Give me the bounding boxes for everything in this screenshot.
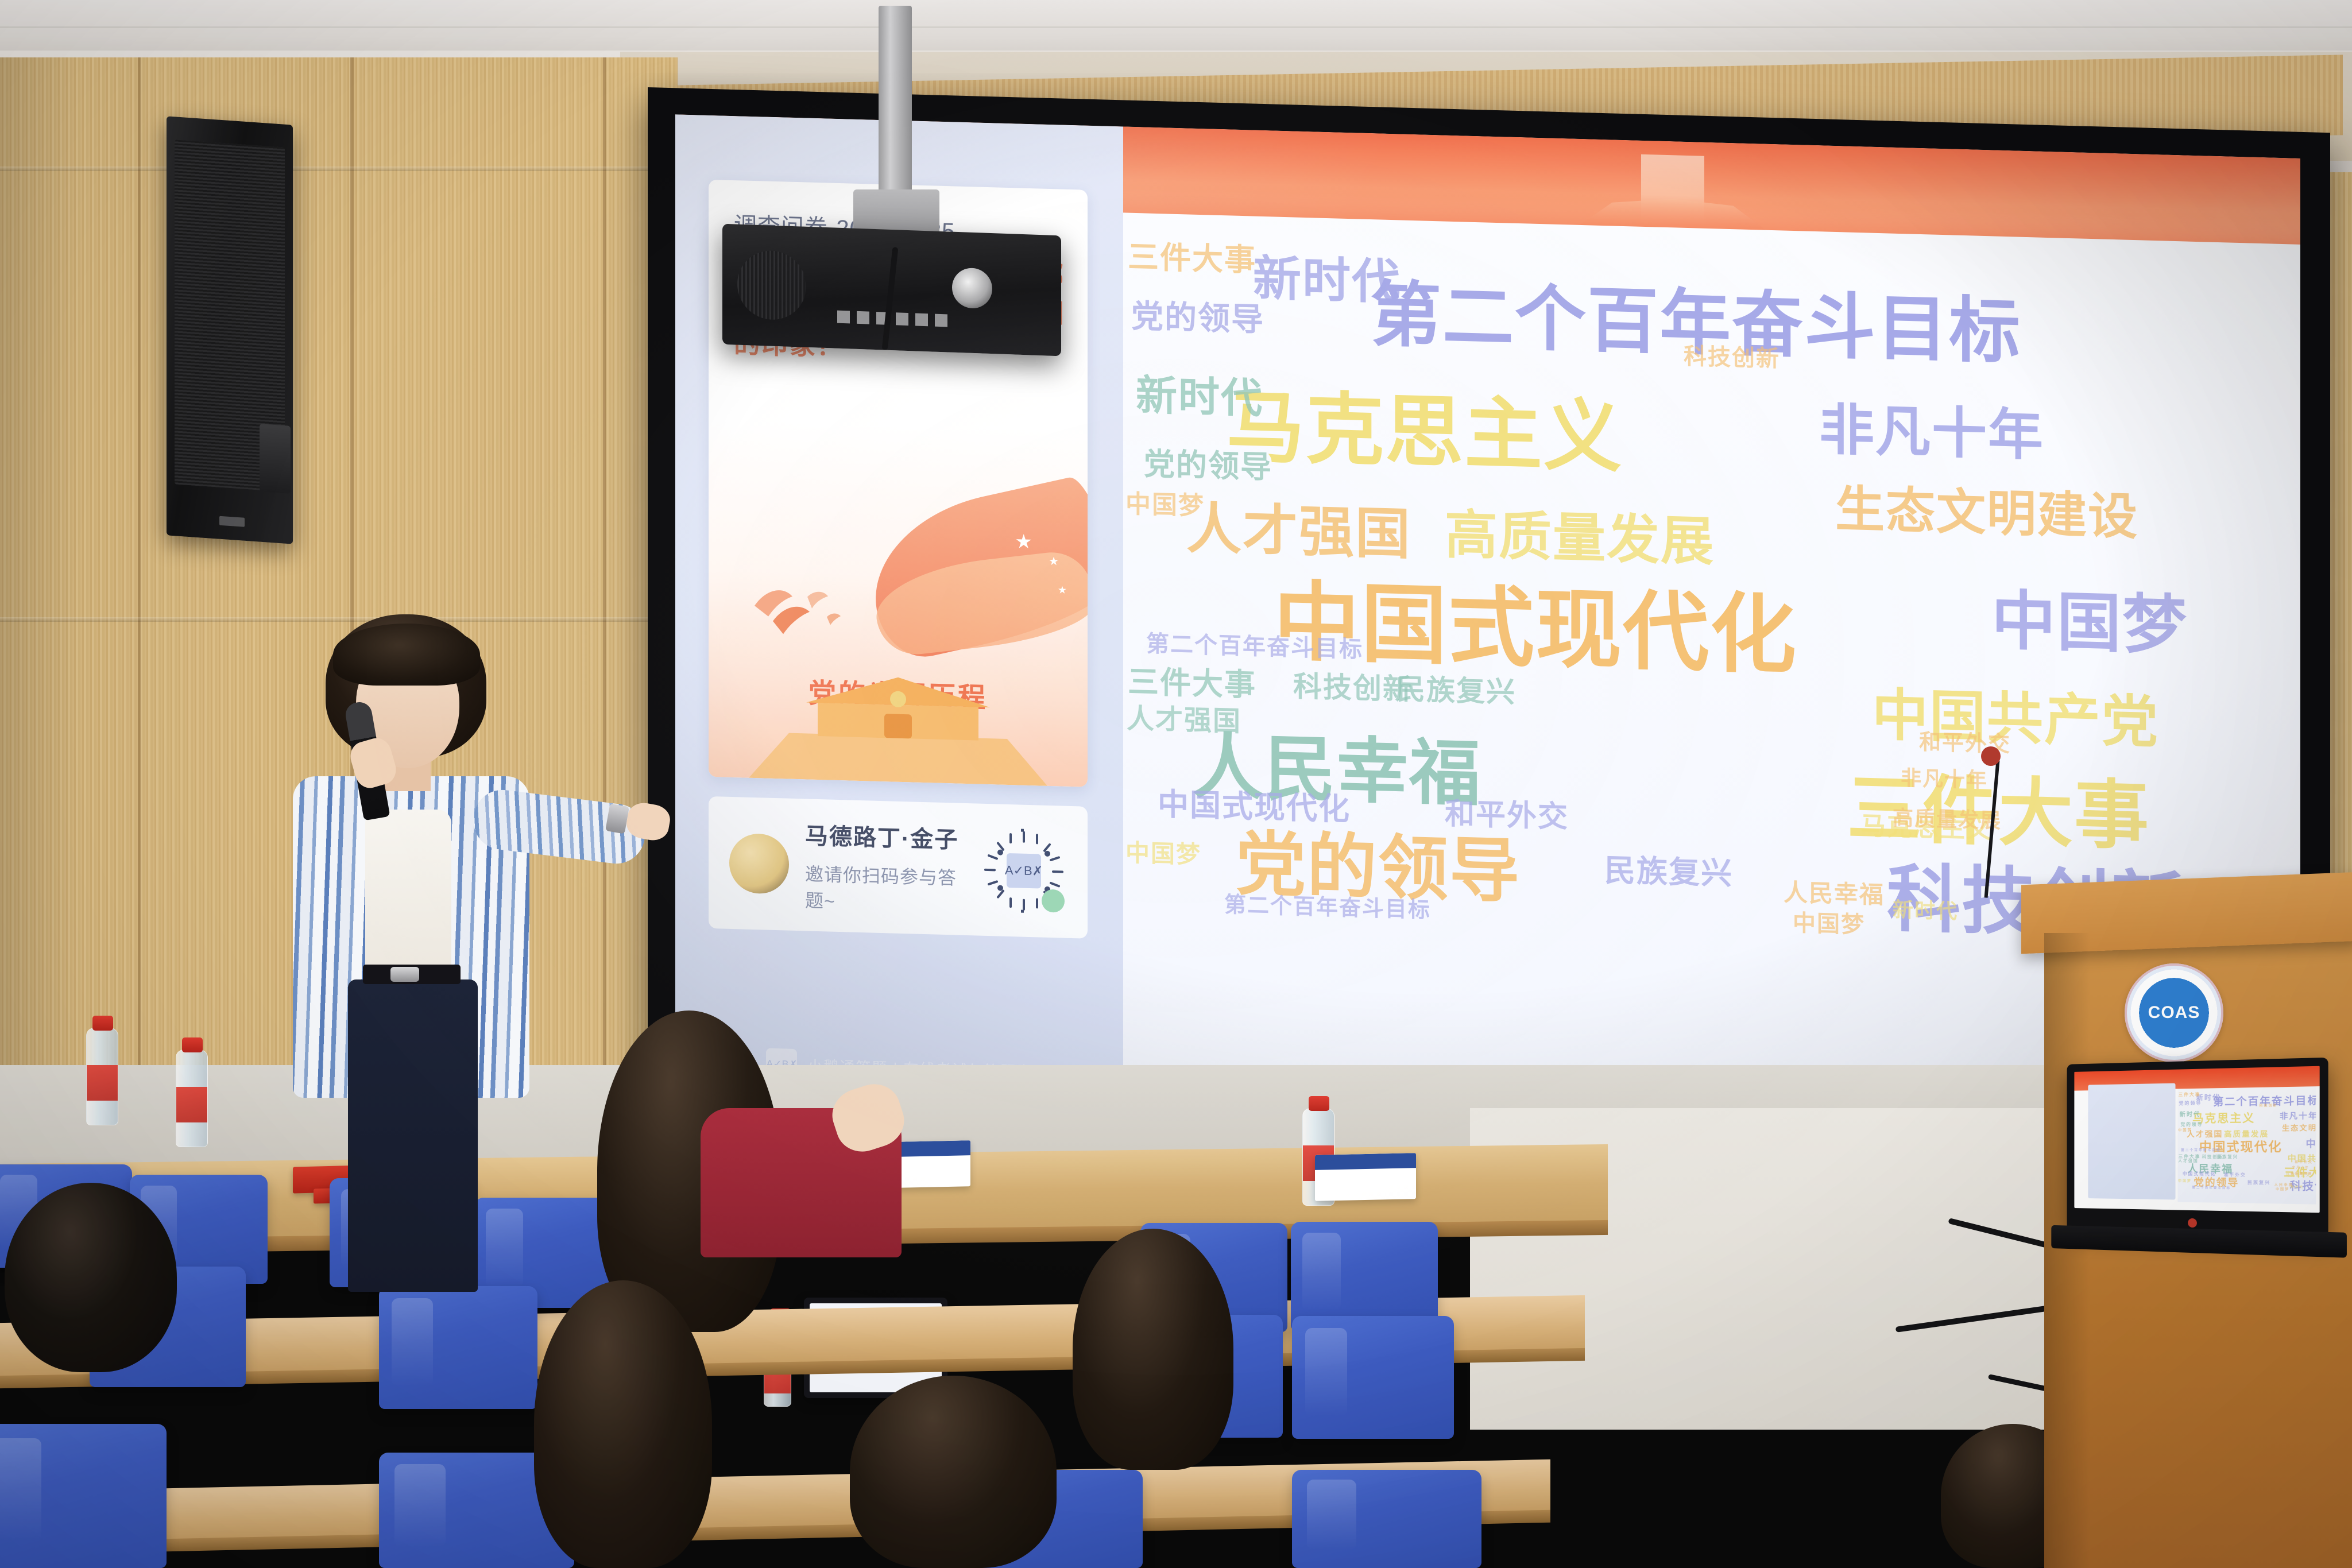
presenter [225, 614, 627, 1292]
projector-vent [737, 250, 806, 321]
presenter-belt-buckle [390, 967, 419, 982]
word-cloud-term: 民族复兴 [1396, 675, 1516, 707]
word-cloud-term: 非凡十年 [2280, 1112, 2316, 1121]
presenter-laptop[interactable]: 中国式现代化第二个百年奋斗目标马克思主义三件大事科技创新人民幸福党的领导中国梦中… [2067, 1058, 2328, 1237]
word-cloud-term: 党的领导 [1131, 300, 1264, 336]
bottle-label [87, 1065, 118, 1101]
word-cloud-term: 新时代 [2180, 1112, 2201, 1118]
invite-card[interactable]: 马德路丁·金子 邀请你扫码参与答题~ [709, 796, 1088, 939]
questionnaire-poster-art: ★ ★ ★ 党的光辉历程 [709, 421, 1088, 787]
word-cloud-term: 第二个百年奋斗目标 [1224, 894, 1431, 922]
presenter-trousers [348, 979, 478, 1292]
bottle-cap [92, 1016, 113, 1031]
auditorium-seat[interactable] [1291, 1222, 1438, 1331]
star-icon: ★ [1015, 530, 1032, 553]
word-cloud-term: 中国式现代化 [1274, 578, 1797, 679]
qr-code[interactable]: A✓B✗ [981, 827, 1067, 915]
word-cloud-term: 第二个百年奋斗目标 [1146, 632, 1363, 661]
word-cloud-term: 民族复兴 [1604, 855, 1733, 889]
word-cloud-term: 新时代 [2291, 1186, 2304, 1190]
avatar [729, 833, 789, 895]
audience-person [1073, 1229, 1233, 1470]
word-cloud-term: 马克思主义 [1227, 388, 1623, 477]
water-bottle[interactable] [176, 1050, 208, 1147]
laptop-screen: 中国式现代化第二个百年奋斗目标马克思主义三件大事科技创新人民幸福党的领导中国梦中… [2074, 1066, 2319, 1213]
laptop-questionnaire-thumb [2088, 1083, 2175, 1200]
word-cloud-term: 三件大事 [1128, 667, 1256, 701]
qr-code-logo: A✓B✗ [1007, 853, 1041, 889]
word-cloud-term: 科技创新 [1293, 672, 1413, 704]
name-plate [1315, 1153, 1416, 1201]
name-plate-header [1315, 1153, 1416, 1170]
bottle-label [176, 1087, 207, 1122]
star-icon: ★ [1049, 554, 1059, 568]
auditorium-seat[interactable] [1292, 1470, 1481, 1568]
lecture-hall-photo: 问卷调查 调查问卷-2022/11/25 党的二十大胜利闭幕后，哪一个话题给你留… [0, 0, 2352, 1568]
presenter-inner-top [365, 810, 451, 982]
word-cloud-term: 高质量发展 [2291, 1172, 2312, 1176]
word-cloud-term: 和平外交 [2295, 1161, 2313, 1164]
word-cloud-term: 人才强国 [1186, 501, 1411, 563]
projector-mount-pole [879, 6, 912, 207]
word-cloud-term: 高质量发展 [2224, 1130, 2269, 1138]
word-cloud-term: 中国梦 [2276, 1188, 2289, 1192]
podium-shadow [2044, 933, 2090, 1568]
lectern-microphone-head [1981, 746, 2001, 766]
word-cloud-term: 新时代 [1893, 900, 1958, 922]
word-cloud-term: 非凡十年 [2292, 1167, 2309, 1170]
auditorium-seat[interactable] [1292, 1316, 1454, 1439]
word-cloud-term: 第二个百年奋斗目标 [2181, 1149, 2221, 1153]
bottle-cap [1309, 1096, 1329, 1111]
audience-person [534, 1280, 712, 1568]
word-cloud-term: 非凡十年 [1901, 768, 1988, 791]
word-cloud-term: 中国梦 [1793, 912, 1865, 936]
word-cloud-term: 三件大事 [2179, 1093, 2201, 1097]
venue-logo: COAS [2125, 963, 2223, 1062]
wood-panel-edge [0, 167, 678, 171]
venue-logo-arc [2125, 963, 2223, 1062]
word-cloud-term: 人才强国 [1127, 706, 1241, 736]
word-cloud-term: 中国梦 [2178, 1129, 2192, 1132]
star-icon: ★ [1058, 584, 1067, 596]
venue-logo-ring: COAS [2125, 963, 2223, 1062]
word-cloud-term: 中国梦 [2305, 1139, 2316, 1149]
invite-user-info: 马德路丁·金子 邀请你扫码参与答题~ [805, 817, 965, 917]
audience-person [850, 1376, 1057, 1568]
presenter-fringe [333, 624, 480, 686]
word-cloud-term: 科技创新 [1684, 345, 1780, 371]
word-cloud-term: 生态文明建设 [2282, 1124, 2316, 1132]
word-cloud-term: 民族复兴 [2247, 1180, 2270, 1185]
word-cloud-term: 和平外交 [1445, 799, 1569, 833]
name-plate-name [1315, 1170, 1416, 1172]
word-cloud-term: 非凡十年 [1819, 402, 2044, 464]
word-cloud-term: 高质量发展 [1893, 808, 2002, 831]
wechat-badge-icon [1042, 889, 1065, 913]
word-cloud-term: 第二个百年奋斗目标 [2192, 1187, 2231, 1190]
laptop-wordcloud-thumb: 中国式现代化第二个百年奋斗目标马克思主义三件大事科技创新人民幸福党的领导中国梦中… [2177, 1086, 2316, 1205]
word-cloud-term: 新时代 [1136, 375, 1263, 420]
wood-seam [138, 57, 141, 1068]
invite-message: 邀请你扫码参与答题~ [805, 860, 965, 917]
word-cloud-term: 党的领导 [1144, 448, 1272, 483]
word-cloud-term: 中国式现代化 [2183, 1172, 2216, 1176]
word-cloud-term: 人才强国 [2178, 1160, 2198, 1164]
word-cloud-term: 中国梦 [1125, 841, 1201, 868]
word-cloud-term: 三件大事 [2179, 1154, 2201, 1159]
invite-user-name: 马德路丁·金子 [805, 817, 965, 855]
word-cloud-term: 党的领导 [2181, 1122, 2203, 1127]
doves-icon [743, 565, 869, 655]
projector-lens [952, 268, 992, 309]
word-cloud-term: 科技创新 [2202, 1155, 2223, 1159]
word-cloud-term: 和平外交 [2224, 1172, 2246, 1177]
word-cloud-term: 科技创新 [2259, 1105, 2277, 1108]
word-cloud-term: 中国梦 [1991, 589, 2188, 658]
word-cloud-term: 中国共产党 [1872, 687, 2159, 751]
bottle-cap [182, 1037, 203, 1052]
auditorium-seat[interactable] [0, 1424, 167, 1568]
tiananmen-icon [749, 646, 1047, 786]
ceiling-seam-2 [0, 26, 2352, 28]
laptop-logo-icon [2188, 1218, 2197, 1228]
word-cloud-term: 人民幸福 [1784, 881, 1885, 908]
audience-person [5, 1183, 177, 1372]
water-bottle[interactable] [86, 1028, 118, 1125]
word-cloud-term: 中国式现代化 [1158, 789, 1351, 825]
word-cloud-term: 高质量发展 [1445, 509, 1715, 569]
speaker-badge [219, 516, 245, 527]
word-cloud-term: 党的领导 [2179, 1101, 2202, 1106]
word-cloud-term: 中国梦 [1125, 492, 1205, 520]
word-cloud-term: 中国梦 [2178, 1179, 2192, 1183]
projector-label [837, 311, 952, 327]
wall-sensor [260, 424, 291, 494]
word-cloud-term: 新时代 [1253, 254, 1401, 307]
word-cloud-term: 生态文明建设 [1835, 485, 2138, 542]
word-cloud-term: 三件大事 [1128, 242, 1256, 276]
auditorium-seat[interactable] [379, 1286, 537, 1409]
